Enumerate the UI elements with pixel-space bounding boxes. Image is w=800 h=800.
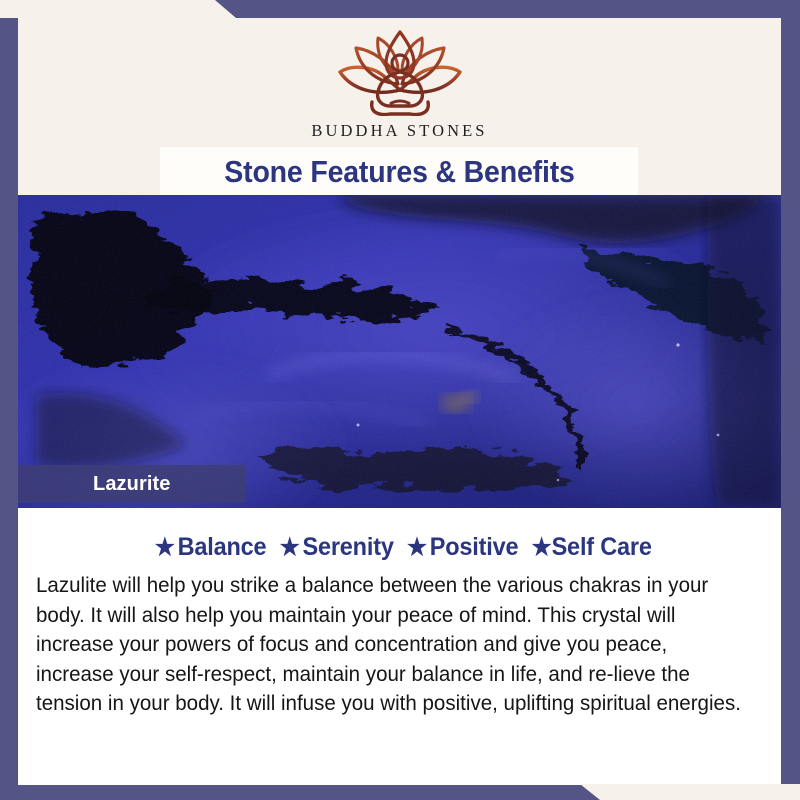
decor-notch-bottom-right [580, 784, 800, 800]
stone-name-label: Lazurite [18, 473, 170, 496]
lazurite-stone-photo: Lazurite [18, 195, 781, 508]
keyword-self-care: Self Care [552, 533, 652, 561]
content-section: ★Balance★Serenity★Positive★Self Care Laz… [18, 508, 781, 785]
star-icon: ★ [407, 534, 427, 561]
brand-logo: BUDDHA STONES [18, 24, 781, 141]
brand-name: BUDDHA STONES [311, 121, 487, 141]
star-icon: ★ [280, 534, 300, 561]
header-section: BUDDHA STONES Stone Features & Benefits [18, 18, 781, 192]
keyword-list: ★Balance★Serenity★Positive★Self Care [41, 533, 758, 562]
stone-name-tag: Lazurite [18, 465, 245, 503]
keyword-balance: Balance [178, 533, 267, 561]
page-title: Stone Features & Benefits [49, 145, 751, 198]
poster-card: BUDDHA STONES Stone Features & Benefits [18, 18, 781, 785]
star-icon: ★ [532, 534, 552, 561]
lotus-buddha-icon [312, 24, 488, 116]
keyword-serenity: Serenity [302, 533, 393, 561]
keyword-positive: Positive [430, 533, 519, 561]
decor-notch-top-left [0, 0, 236, 18]
poster-root: BUDDHA STONES Stone Features & Benefits [0, 0, 800, 800]
stone-texture [18, 195, 781, 508]
description-paragraph: Lazulite will help you strike a balance … [36, 571, 745, 719]
star-icon: ★ [155, 534, 175, 561]
